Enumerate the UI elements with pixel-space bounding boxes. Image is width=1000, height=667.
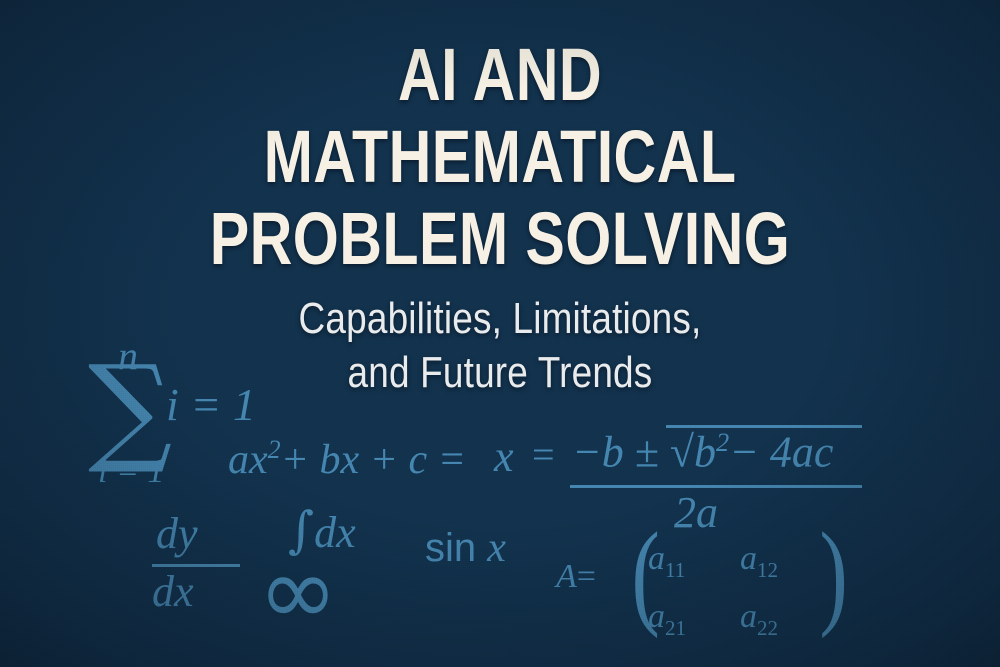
page-title-line-3: PROBLEM SOLVING <box>100 202 900 276</box>
page-subtitle-line-1: Capabilities, Limitations, <box>80 296 920 343</box>
page-title-line-2: MATHEMATICAL <box>100 120 900 194</box>
poster-canvas: n ∑ i = 1 i = 1 ax2+ bx + c = x = −b ± √… <box>0 0 1000 667</box>
page-title-line-1: AI AND <box>100 38 900 112</box>
poster-text-layer: AI AND MATHEMATICAL PROBLEM SOLVING Capa… <box>0 0 1000 667</box>
page-subtitle-line-2: and Future Trends <box>80 350 920 397</box>
